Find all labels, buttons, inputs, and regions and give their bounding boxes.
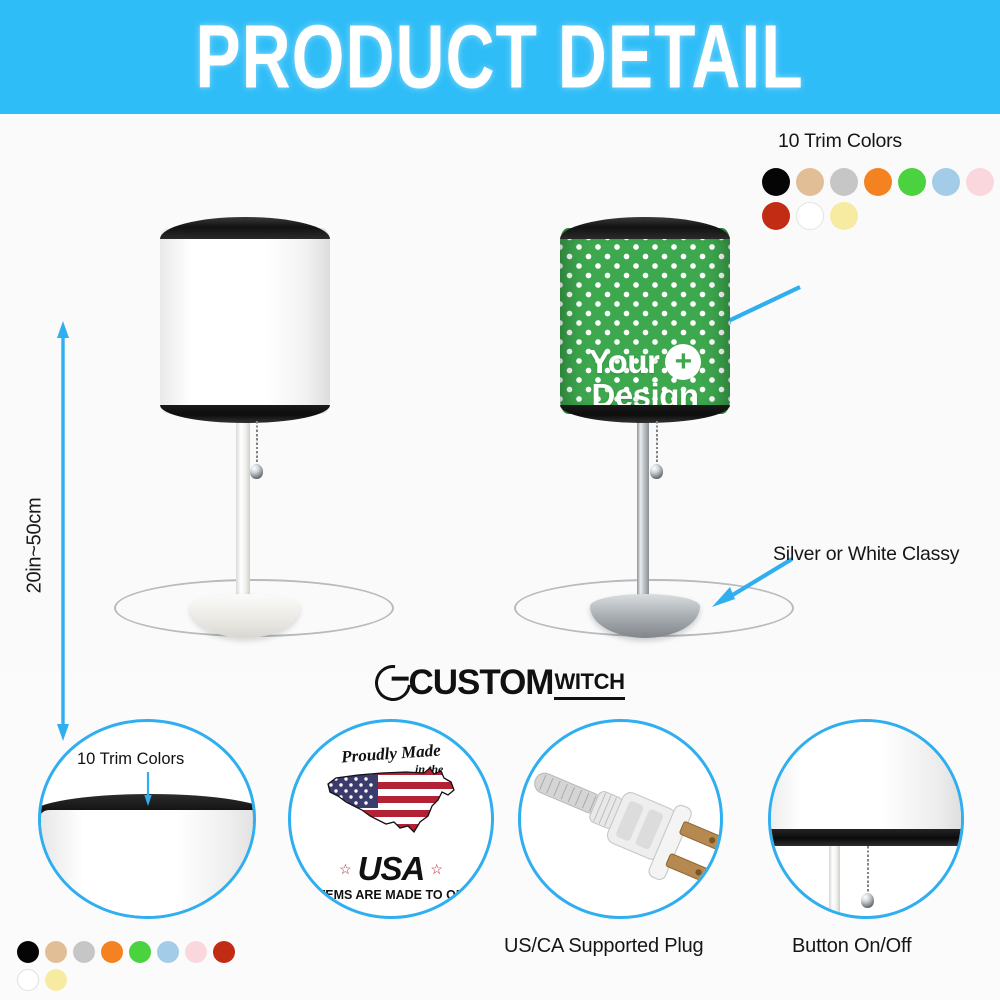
feature-row: 10 Trim Colors Proudly Ma: [0, 705, 1000, 1000]
swatch-green[interactable]: [129, 941, 151, 963]
base-finish-callout-label: Silver or White Classy: [773, 543, 959, 566]
usa-subtitle-text: ALL ITEMS ARE MADE TO ORDER!: [288, 888, 494, 902]
plug-feature-caption: US/CA Supported Plug: [504, 935, 703, 958]
design-line-1: Your: [589, 346, 660, 377]
swatch-gray[interactable]: [830, 168, 858, 196]
logo-underline: [554, 697, 624, 700]
swatch-white[interactable]: [17, 969, 39, 991]
pull-chain[interactable]: [250, 421, 263, 479]
shade-top-trim: [560, 217, 730, 239]
feature-shade-body: [768, 719, 964, 836]
lamp-pole: [236, 409, 250, 617]
lamp-shade: [160, 217, 330, 422]
usa-country-text: USA: [358, 850, 425, 888]
pull-chain[interactable]: [650, 421, 663, 479]
usa-badge: Proudly Made in the: [291, 722, 491, 916]
us-plug-icon: [521, 722, 720, 916]
swatch-orange[interactable]: [864, 168, 892, 196]
logo-witch-block: WITCH: [554, 669, 624, 700]
star-right-icon: ☆: [430, 861, 443, 878]
plus-icon[interactable]: +: [665, 344, 701, 380]
pull-chain-ball[interactable]: [250, 464, 263, 479]
product-detail-page: PRODUCT DETAIL 7in~18cm 20in~50cm: [0, 0, 1000, 1000]
shade-surface: [160, 228, 330, 414]
trim-colors-circle: 10 Trim Colors: [38, 719, 256, 919]
lamp-shade: Your + Design: [560, 217, 730, 422]
trim-colors-callout-label: 10 Trim Colors: [778, 130, 902, 153]
star-left-icon: ☆: [339, 861, 352, 878]
inner-trim-colors-label: 10 Trim Colors: [77, 750, 184, 769]
feature-shade-body: [39, 810, 256, 919]
button-circle: [768, 719, 964, 919]
trim-color-swatch-row-top[interactable]: [762, 168, 1000, 230]
made-in-usa-feature: Proudly Made in the: [288, 719, 498, 919]
page-title: PRODUCT DETAIL: [196, 6, 804, 108]
swatch-pink[interactable]: [966, 168, 994, 196]
logo-witch-text: WITCH: [554, 669, 624, 695]
swatch-red[interactable]: [762, 202, 790, 230]
plug-feature: US/CA Supported Plug: [518, 719, 738, 979]
feature-shade-trim: [768, 829, 964, 846]
swatch-pink[interactable]: [185, 941, 207, 963]
swatch-green[interactable]: [898, 168, 926, 196]
button-feature: Button On/Off: [768, 719, 978, 979]
swatch-light-blue[interactable]: [157, 941, 179, 963]
swatch-orange[interactable]: [101, 941, 123, 963]
swatch-red[interactable]: [213, 941, 235, 963]
lamp-pole: [637, 409, 649, 617]
usa-word-row: ☆ USA ☆: [339, 850, 443, 888]
white-lamp: [110, 199, 390, 659]
swatch-white[interactable]: [796, 202, 824, 230]
shade-bottom-trim: [160, 405, 330, 423]
feature-pull-chain[interactable]: [861, 846, 874, 908]
shade-bottom-trim: [560, 405, 730, 423]
plug-circle: [518, 719, 723, 919]
trim-color-swatch-row-bottom[interactable]: [17, 941, 252, 991]
inner-trim-arrow: [144, 772, 152, 806]
feature-pull-chain-ball[interactable]: [861, 893, 874, 908]
logo-custom-text: CUSTOM: [408, 663, 553, 703]
page-header: PRODUCT DETAIL: [0, 0, 1000, 114]
swatch-yellow[interactable]: [45, 969, 67, 991]
swatch-tan[interactable]: [45, 941, 67, 963]
swatch-yellow[interactable]: [830, 202, 858, 230]
usa-map-flag-icon: [320, 762, 462, 848]
shade-top-trim: [160, 217, 330, 239]
trim-colors-feature: 10 Trim Colors: [38, 719, 263, 919]
your-design-placeholder[interactable]: Your + Design: [560, 344, 730, 411]
brand-logo: CUSTOM WITCH: [0, 663, 1000, 703]
pull-chain-ball[interactable]: [650, 464, 663, 479]
swatch-gray[interactable]: [73, 941, 95, 963]
swatch-light-blue[interactable]: [932, 168, 960, 196]
made-in-usa-circle: Proudly Made in the: [288, 719, 494, 919]
swatch-black[interactable]: [762, 168, 790, 196]
swatch-black[interactable]: [17, 941, 39, 963]
shade-surface-green: Your + Design: [560, 228, 730, 414]
swatch-tan[interactable]: [796, 168, 824, 196]
feature-lamp-pole: [829, 846, 840, 919]
height-dimension-label: 20in~50cm: [24, 476, 47, 616]
button-feature-caption: Button On/Off: [792, 935, 911, 958]
